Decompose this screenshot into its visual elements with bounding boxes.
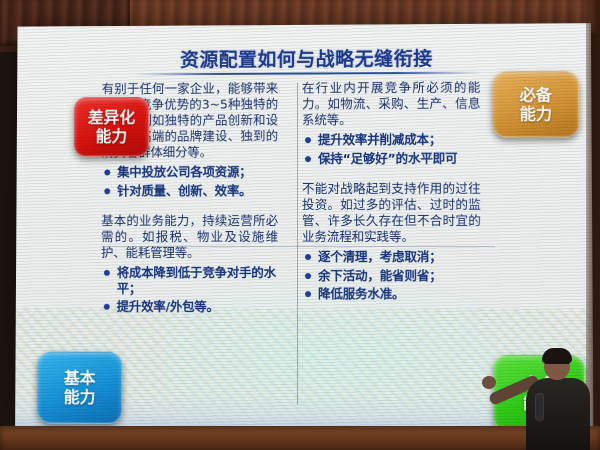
badge-line-2: 能力 [64,388,96,407]
badge-essential-capability: 必备 能力 [492,71,579,137]
right-column: 在行业内开展竞争所必须的能力。如物流、采购、生产、信息系统等。 提升效率并削减成… [302,80,481,305]
badge-line-1: 必备 [520,85,552,104]
badge-line-1: 基本 [64,369,96,388]
quadrant-top-right-bullets: 提升效率并削减成本； 保持“足够好”的水平即可 [302,132,481,166]
list-item: 降低服务水准。 [302,286,481,302]
list-item: 余下活动，能省则省； [302,268,481,284]
presenter-hair [542,348,572,363]
list-item: 提升效率并削减成本； [302,132,481,148]
quadrant-top-right-paragraph: 在行业内开展竞争所必须的能力。如物流、采购、生产、信息系统等。 [302,80,480,129]
glasses-icon [545,362,569,369]
microphone-icon [536,394,543,420]
spacer [302,169,481,181]
presenter-silhouette [514,338,598,450]
slide-content: 资源配置如何与战略无缝衔接 有别于任何一家企业，能够带来可持续竞争优势的3~5种… [15,23,593,430]
badge-basic-capability: 基本 能力 [37,352,123,424]
list-item: 提升效率/外包等。 [101,299,278,315]
quadrant-bottom-right-paragraph: 不能对战略起到支持作用的过往投资。如过多的评估、过时的监管、许多长久存在但不合时… [302,181,481,245]
slide-title: 资源配置如何与战略无缝衔接 [137,44,476,73]
column-divider [297,82,298,404]
photo-of-presentation-screen: 资源配置如何与战略无缝衔接 有别于任何一家企业，能够带来可持续竞争优势的3~5种… [0,0,600,450]
led-display-wall: 资源配置如何与战略无缝衔接 有别于任何一家企业，能够带来可持续竞争优势的3~5种… [15,23,593,430]
list-item: 集中投放公司各项资源； [101,164,278,180]
badge-differentiating-capability: 差异化 能力 [74,97,149,157]
badge-line-2: 能力 [96,127,128,146]
quadrant-bottom-left-bullets: 将成本降到低于竞争对手的水平； 提升效率/外包等。 [101,265,278,315]
list-item: 逐个清理，考虑取消； [302,249,481,265]
room-wall-bottom [0,426,600,450]
title-underline [133,72,482,76]
quadrant-top-left-bullets: 集中投放公司各项资源； 针对质量、创新、效率。 [101,164,278,198]
badge-line-1: 差异化 [88,108,135,127]
presenter-hand [482,376,496,389]
quadrant-bottom-left-paragraph: 基本的业务能力，持续运营所必需的。如报税、物业及设施维护、能耗管理等。 [101,213,278,261]
quadrant-bottom-right-bullets: 逐个清理，考虑取消； 余下活动，能省则省； 降低服务水准。 [302,249,481,302]
list-item: 保持“足够好”的水平即可 [302,150,481,166]
badge-line-2: 能力 [520,104,552,123]
list-item: 针对质量、创新、效率。 [101,183,278,199]
spacer [101,201,278,213]
list-item: 将成本降到低于竞争对手的水平； [101,265,278,296]
